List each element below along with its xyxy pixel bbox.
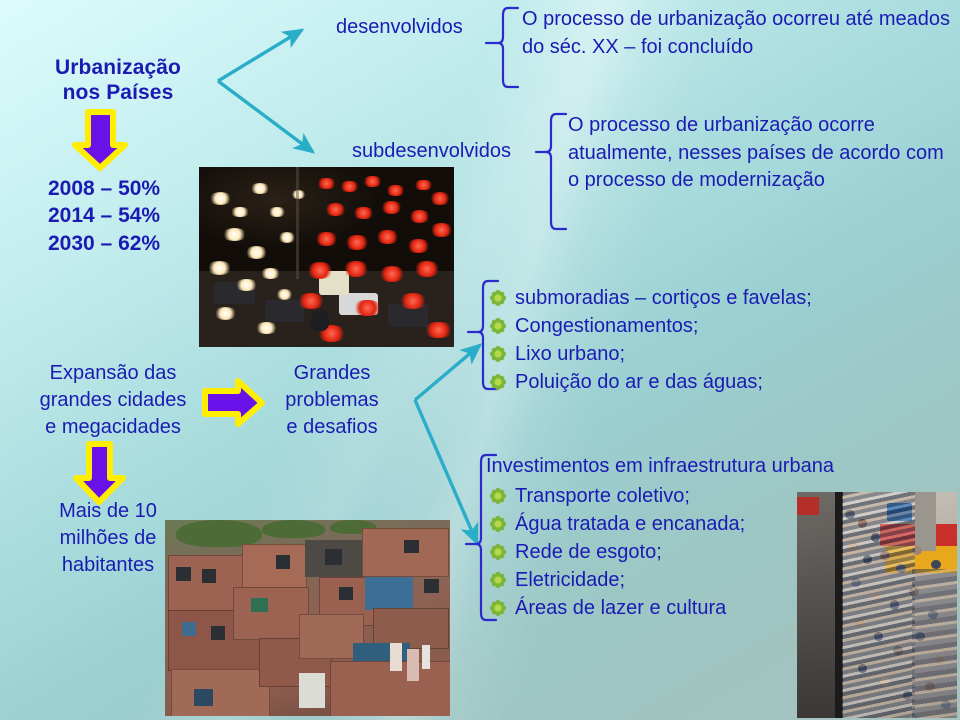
teal-arrow-connector-developed xyxy=(218,30,302,81)
green-flower-bullet-icon xyxy=(490,600,506,616)
list-item: Áreas de lazer e cultura xyxy=(490,595,745,621)
list-item: Poluição do ar e das águas; xyxy=(490,369,812,395)
label-desenvolvidos: desenvolvidos xyxy=(336,16,463,40)
list-item-label: Áreas de lazer e cultura xyxy=(515,595,726,621)
green-flower-bullet-icon xyxy=(490,488,506,504)
list-item: Lixo urbano; xyxy=(490,341,812,367)
list-item: Congestionamentos; xyxy=(490,313,812,339)
list-item: Transporte coletivo; xyxy=(490,483,745,509)
page-title-urbanizacao: Urbanização nos Países xyxy=(18,56,218,106)
green-flower-bullet-icon xyxy=(490,374,506,390)
list-item-label: Lixo urbano; xyxy=(515,341,625,367)
brace-underdeveloped xyxy=(536,114,566,229)
text-expansao-cidades: Expansão das grandes cidades e megacidad… xyxy=(18,360,208,441)
list-item: submoradias – cortiços e favelas; xyxy=(490,285,812,311)
green-flower-bullet-icon xyxy=(490,572,506,588)
paragraph-subdesenvolvidos: O processo de urbanização ocorre atualme… xyxy=(568,112,948,195)
list-item-label: Água tratada e encanada; xyxy=(515,511,745,537)
list-problemas-urbanos: submoradias – cortiços e favelas; Conges… xyxy=(490,285,812,397)
teal-arrow-connector-problems xyxy=(415,345,480,400)
list-item-label: Transporte coletivo; xyxy=(515,483,690,509)
green-flower-bullet-icon xyxy=(490,290,506,306)
list-item-label: Poluição do ar e das águas; xyxy=(515,369,763,395)
brace-developed xyxy=(486,8,518,87)
list-item-label: Congestionamentos; xyxy=(515,313,698,339)
list-item-label: Eletricidade; xyxy=(515,567,625,593)
paragraph-desenvolvidos: O processo de urbanização ocorreu até me… xyxy=(522,6,952,61)
teal-arrow-connector-underdeveloped xyxy=(218,81,313,152)
heading-investimentos: Investimentos em infraestrutura urbana xyxy=(486,455,834,479)
list-item-label: Rede de esgoto; xyxy=(515,539,662,565)
text-mais-de-10-milhoes: Mais de 10 milhões de habitantes xyxy=(22,498,194,579)
down-arrow-purple-yellow-1 xyxy=(75,112,125,168)
list-item-label: submoradias – cortiços e favelas; xyxy=(515,285,812,311)
photo-crowded-train-station-platform xyxy=(797,492,957,718)
text-grandes-problemas: Grandes problemas e desafios xyxy=(252,360,412,441)
green-flower-bullet-icon xyxy=(490,516,506,532)
photo-favela-hillside-houses xyxy=(165,520,450,716)
list-investimentos-infraestrutura: Transporte coletivo; Água tratada e enca… xyxy=(490,483,745,623)
list-item: Água tratada e encanada; xyxy=(490,511,745,537)
slide-canvas: Urbanização nos Países 2008 – 50% 2014 –… xyxy=(0,0,960,720)
down-arrow-purple-yellow-2 xyxy=(76,444,123,502)
green-flower-bullet-icon xyxy=(490,318,506,334)
list-item: Eletricidade; xyxy=(490,567,745,593)
green-flower-bullet-icon xyxy=(490,346,506,362)
urbanization-stats: 2008 – 50% 2014 – 54% 2030 – 62% xyxy=(34,175,238,257)
label-subdesenvolvidos: subdesenvolvidos xyxy=(352,140,511,164)
list-item: Rede de esgoto; xyxy=(490,539,745,565)
green-flower-bullet-icon xyxy=(490,544,506,560)
